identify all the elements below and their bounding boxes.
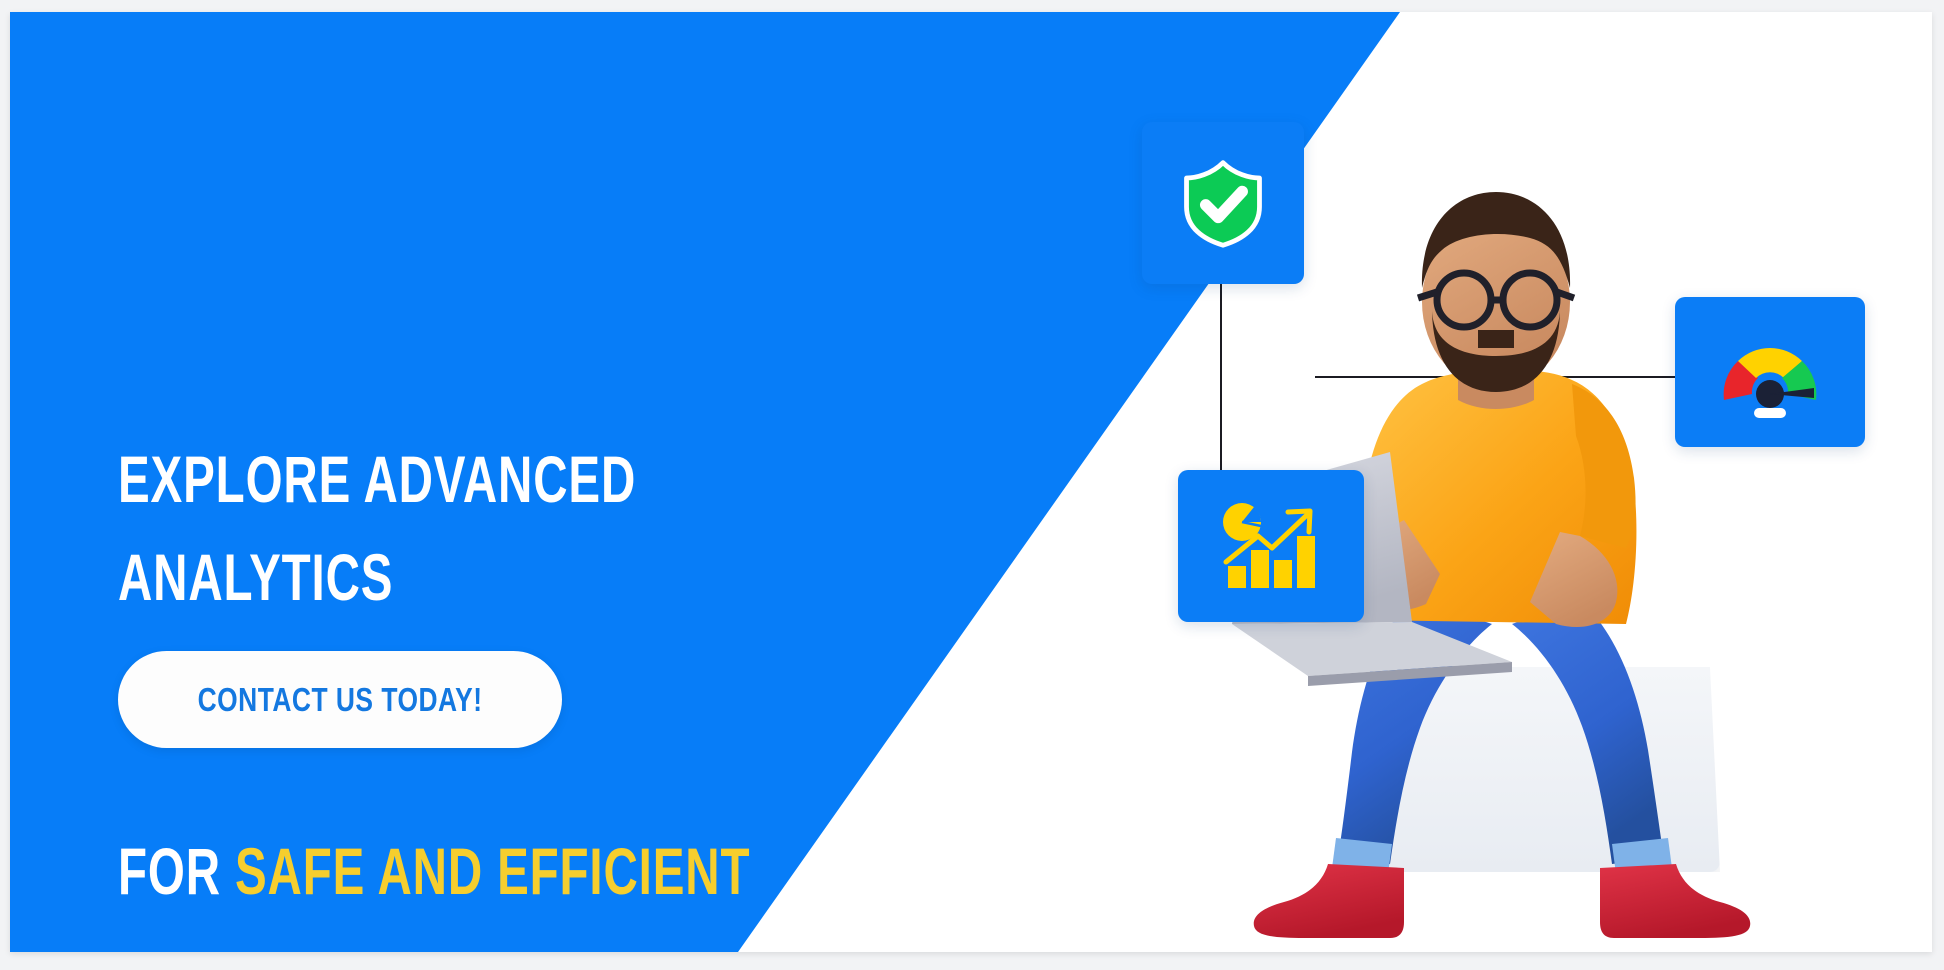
security-shield-card[interactable]	[1142, 122, 1304, 284]
page-title: EXPLORE ADVANCED ANALYTICS FOR SAFE AND …	[118, 234, 766, 952]
contact-us-button[interactable]: CONTACT US TODAY!	[118, 651, 562, 748]
shoes-group	[1254, 864, 1751, 938]
illustration-area	[1060, 12, 1932, 952]
headline-line-1: EXPLORE ADVANCED ANALYTICS	[118, 430, 766, 626]
headline-line-2: FOR SAFE AND EFFICIENT	[118, 822, 766, 920]
contact-us-button-label: CONTACT US TODAY!	[198, 681, 483, 719]
shield-check-icon	[1175, 155, 1271, 251]
headline-line-2-prefix: FOR	[118, 834, 235, 908]
gauge-icon	[1710, 322, 1830, 422]
performance-gauge-card[interactable]	[1675, 297, 1865, 447]
analytics-chart-card[interactable]	[1178, 470, 1364, 622]
promo-banner: EXPLORE ADVANCED ANALYTICS FOR SAFE AND …	[10, 12, 1932, 952]
bar-chart-growth-icon	[1215, 498, 1327, 594]
headline-line-2-accent: SAFE AND EFFICIENT	[235, 834, 750, 908]
